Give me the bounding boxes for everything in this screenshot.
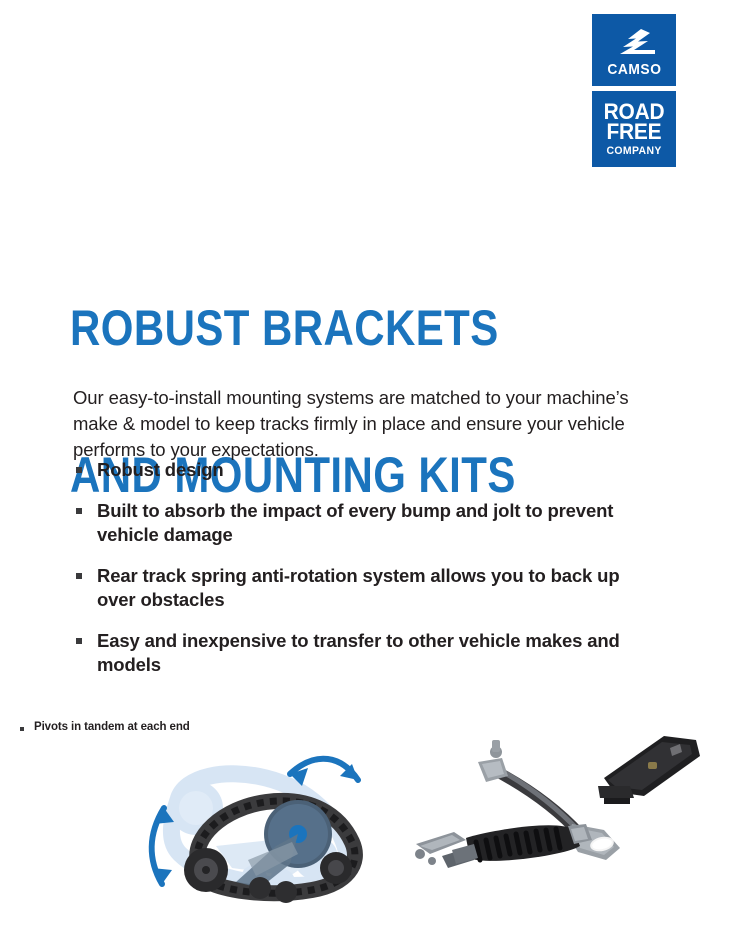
page-title-line-1: ROBUST BRACKETS: [70, 304, 516, 353]
list-item-label: Built to absorb the impact of every bump…: [97, 499, 633, 547]
mounting-bracket-part: [598, 736, 700, 804]
camso-logo-box: CAMSO: [592, 14, 676, 86]
list-item: Robust design: [73, 458, 633, 482]
list-item: Easy and inexpensive to transfer to othe…: [73, 629, 633, 677]
intro-paragraph: Our easy-to-install mounting systems are…: [73, 385, 649, 463]
track-diagram-svg: [140, 742, 410, 918]
figure-caption: Pivots in tandem at each end: [20, 721, 190, 733]
square-bullet-icon: [76, 467, 82, 473]
square-bullet-icon: [76, 638, 82, 644]
mounting-hardware-photo: [408, 726, 708, 896]
list-item-label: Rear track spring anti-rotation system a…: [97, 564, 633, 612]
square-bullet-icon: [76, 573, 82, 579]
list-item: Built to absorb the impact of every bump…: [73, 499, 633, 547]
list-item-label: Easy and inexpensive to transfer to othe…: [97, 629, 633, 677]
coil-spring-assembly-part: [415, 824, 592, 868]
list-item-label: Robust design: [97, 458, 633, 482]
feature-bullet-list: Robust design Built to absorb the impact…: [73, 458, 633, 677]
tagline-company: COMPANY: [606, 146, 661, 156]
parts-photo-svg: [408, 726, 708, 896]
rubber-track-pivot-diagram: [140, 742, 410, 918]
square-bullet-icon: [76, 508, 82, 514]
road-free-company-box: ROAD FREE COMPANY: [592, 91, 676, 167]
camso-tree-mark-icon: [611, 28, 657, 58]
square-bullet-icon: [20, 727, 24, 731]
camso-wordmark: CAMSO: [607, 62, 661, 77]
figure-caption-label: Pivots in tandem at each end: [34, 721, 190, 733]
list-item: Rear track spring anti-rotation system a…: [73, 564, 633, 612]
brand-logo-stack: CAMSO ROAD FREE COMPANY: [592, 14, 676, 167]
tagline-free: FREE: [607, 122, 662, 142]
top-pivot-arc-arrow-icon: [290, 759, 358, 786]
